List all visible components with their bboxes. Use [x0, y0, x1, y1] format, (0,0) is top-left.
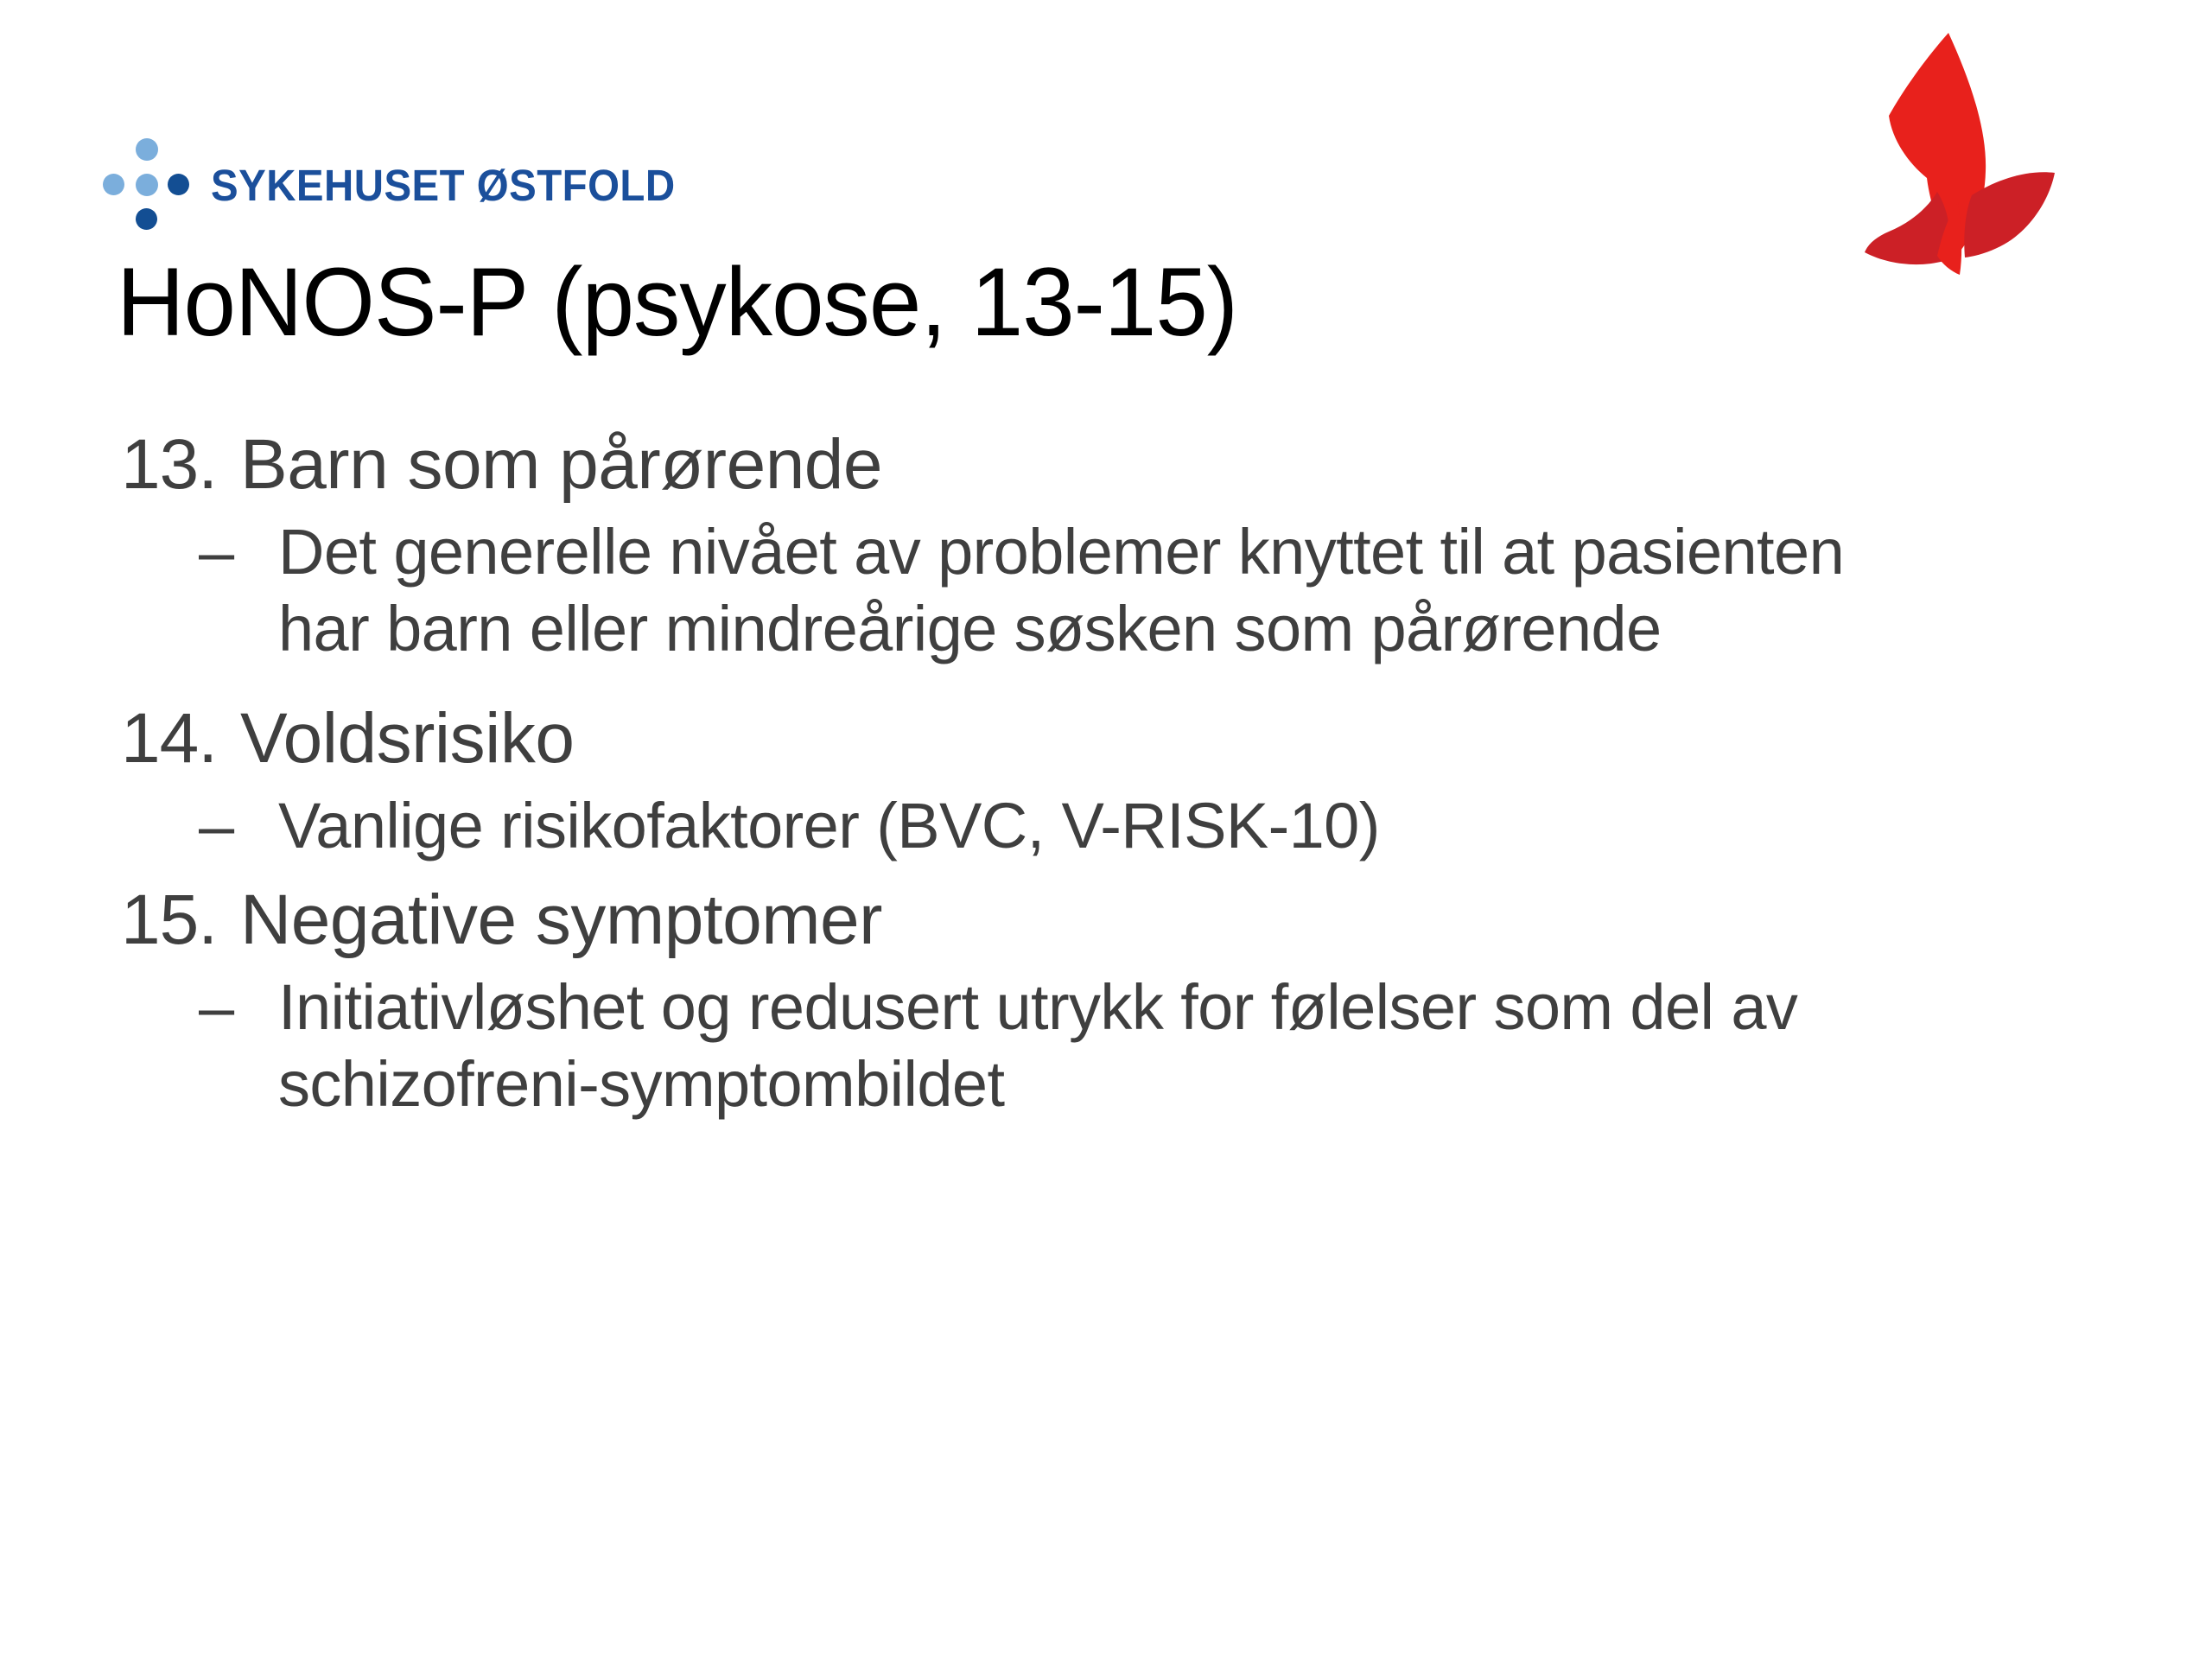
dot-bottom-icon [136, 208, 157, 230]
list-item-label: Barn som pårørende [240, 423, 2108, 505]
sub-list-item-text: Det generelle nivået av problemer knytte… [278, 514, 1929, 668]
list-item-label: Negative symptomer [240, 879, 2108, 961]
slide-canvas: SYKEHUSET ØSTFOLD HoNOS-P (psykose, 13-1… [0, 0, 2212, 1659]
sub-list-item-text: Initiativløshet og redusert utrykk for f… [278, 969, 1929, 1123]
dash-bullet-icon: – [199, 788, 278, 865]
sub-list-item: – Vanlige risikofaktorer (BVC, V-RISK-10… [199, 788, 2108, 865]
dash-bullet-icon: – [199, 514, 278, 591]
dash-bullet-icon: – [199, 969, 278, 1046]
butterfly-emblem-icon [1858, 26, 2117, 285]
sub-list-item: – Initiativløshet og redusert utrykk for… [199, 969, 2108, 1123]
list-item-number: 13. [121, 423, 240, 505]
dot-left-icon [103, 174, 124, 195]
list-item-label: Voldsrisiko [240, 697, 2108, 779]
dot-pattern-icon [102, 138, 192, 232]
list-item: 13. Barn som pårørende [121, 423, 2108, 505]
page-title: HoNOS-P (psykose, 13-15) [117, 251, 1237, 355]
organization-name: SYKEHUSET ØSTFOLD [211, 163, 676, 207]
list-item-number: 14. [121, 697, 240, 779]
dot-right-icon [168, 174, 189, 195]
list-item: 14. Voldsrisiko [121, 697, 2108, 779]
sub-list-item: – Det generelle nivået av problemer knyt… [199, 514, 2108, 668]
sub-list-item-text: Vanlige risikofaktorer (BVC, V-RISK-10) [278, 788, 1380, 865]
content-list: 13. Barn som pårørende – Det generelle n… [121, 423, 2108, 1136]
list-item-number: 15. [121, 879, 240, 961]
dot-top-icon [136, 138, 158, 161]
dot-center-icon [136, 174, 158, 196]
list-item: 15. Negative symptomer [121, 879, 2108, 961]
organization-logo: SYKEHUSET ØSTFOLD [102, 138, 710, 232]
